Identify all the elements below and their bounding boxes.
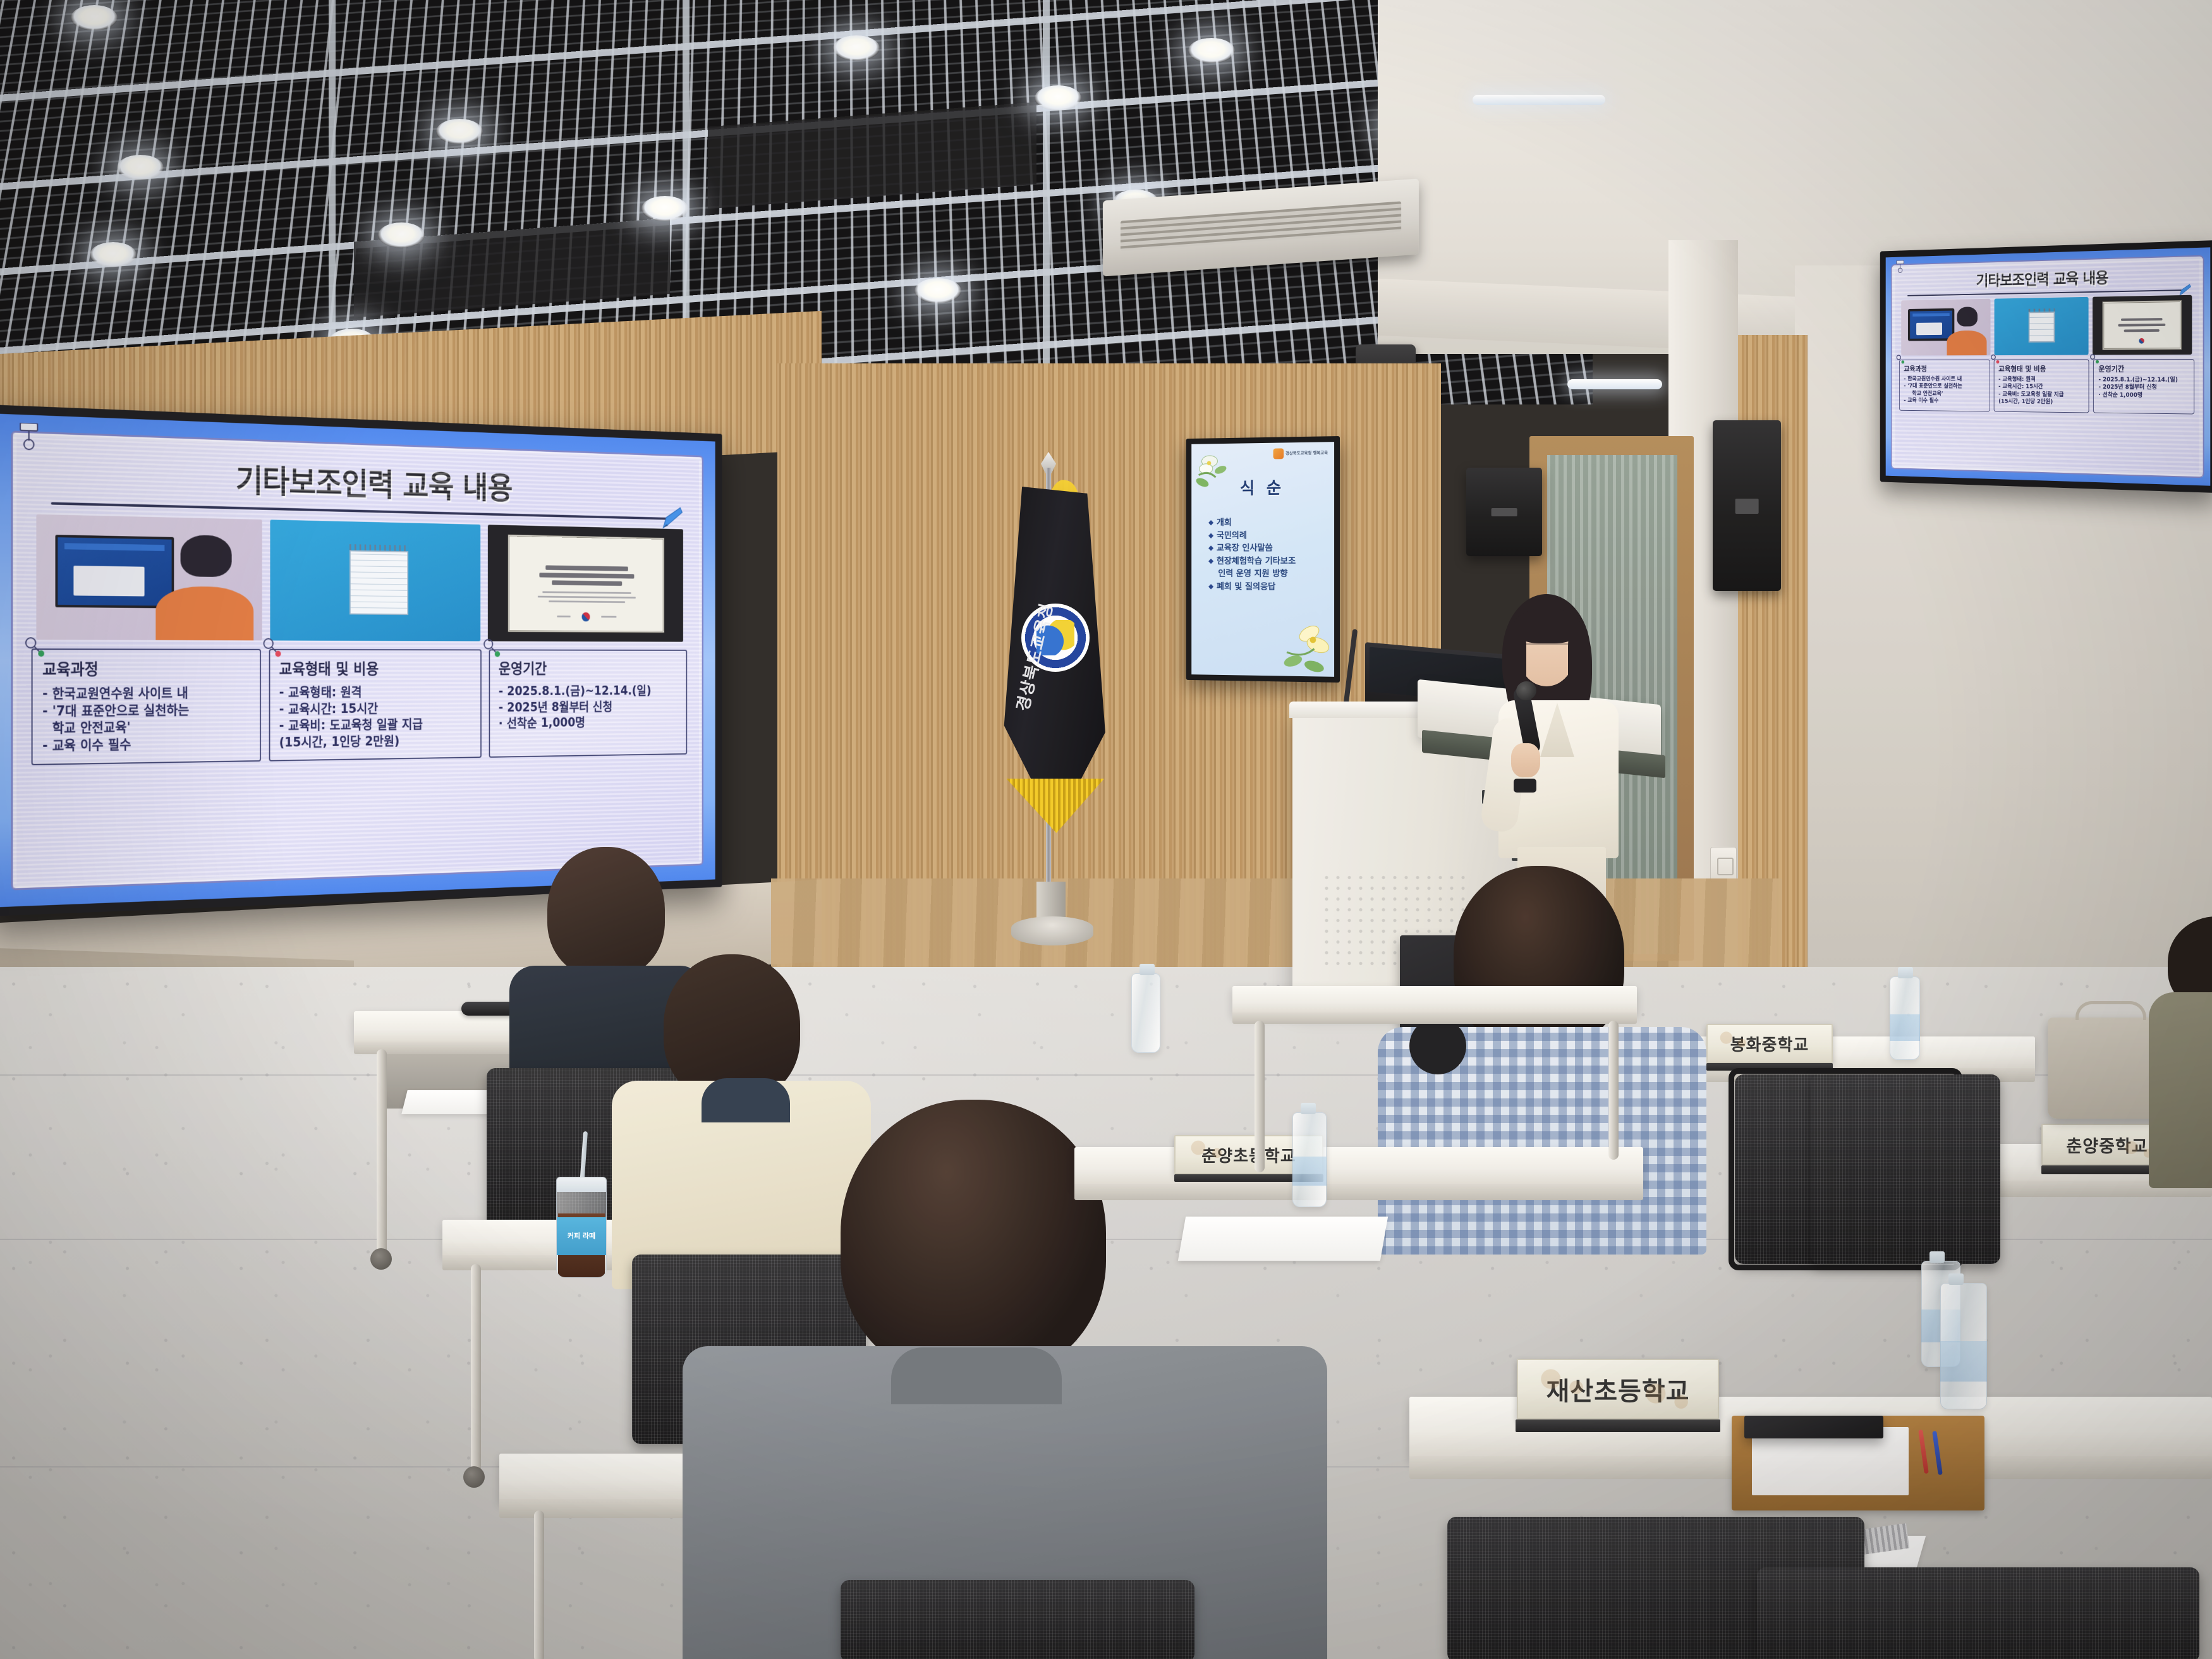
water-bottle	[1131, 973, 1160, 1053]
card-heading: 교육과정	[42, 657, 252, 680]
agenda-monitor: 경상북도교육청 행복교육 식 순 ◆개회 ◆국민의례 ◆교육장 인사말씀 ◆현장…	[1186, 436, 1340, 683]
korean-flag-seal	[582, 612, 590, 622]
agenda-item-list: ◆개회 ◆국민의례 ◆교육장 인사말씀 ◆현장체험학습 기타보조 인력 운영 지…	[1198, 516, 1328, 593]
slide-card-row: 교육과정 - 한국교원연수원 사이트 내 - '7대 표준안으로 실천하는 학교…	[27, 648, 691, 765]
card-bullet: - 2025.8.1.(금)~12.14.(일)	[499, 683, 679, 700]
certificate-illustration	[2093, 295, 2192, 355]
red-pen[interactable]	[1918, 1430, 1929, 1474]
table-edge	[1232, 1012, 1637, 1024]
push-pin-icon	[1896, 355, 1904, 364]
ceiling-downlight	[833, 35, 880, 61]
table-leg	[1255, 1021, 1265, 1172]
table-leg	[534, 1510, 544, 1659]
card-bullet: - 한국교원연수원 사이트 내	[42, 684, 252, 703]
nameplate-bonghwa-middle-school: 봉화중학교	[1706, 1024, 1833, 1063]
person-head	[841, 1100, 1106, 1378]
table-surface	[1232, 986, 1637, 1015]
card-bullet: - 교육 이수 필수	[42, 735, 252, 755]
slide-title: 기타보조인력 교육 내용	[1897, 264, 2197, 293]
bottle-label	[1940, 1341, 1987, 1382]
certificate-illustration	[488, 525, 683, 641]
online-training-illustration	[36, 514, 262, 641]
ceiling-strip-light	[1473, 95, 1605, 105]
card-heading: 교육형태 및 비용	[279, 657, 473, 679]
ceiling-downlight	[1188, 38, 1235, 63]
card-bullet: - 교육시간: 15시간	[279, 700, 473, 719]
binder-clip-icon	[1895, 260, 1905, 274]
card-bullet: (15시간, 1인당 2만원)	[279, 732, 473, 751]
agenda-slide: 경상북도교육청 행복교육 식 순 ◆개회 ◆국민의례 ◆교육장 인사말씀 ◆현장…	[1191, 442, 1334, 677]
push-pin-icon	[483, 638, 501, 657]
ceiling-downlight	[90, 242, 137, 267]
diamond-bullet-icon: ◆	[1208, 580, 1213, 593]
card-bullet: - 2025년 8월부터 신청	[2098, 384, 2190, 392]
eyeglasses-icon	[1522, 643, 1572, 655]
wall-power-outlet[interactable]	[1710, 847, 1737, 882]
ceiling-downlight	[641, 196, 688, 221]
ceiling-downlight	[117, 155, 164, 180]
table-leg	[1608, 1021, 1619, 1160]
office-chair-back[interactable]	[841, 1580, 1194, 1659]
card-bullet: - 교육 이수 필수	[1904, 398, 1986, 406]
table-leg	[377, 1049, 387, 1258]
flag-stand-base	[1011, 916, 1093, 945]
agenda-item: ◆현장체험학습 기타보조	[1208, 555, 1328, 568]
slide-card-curriculum: 교육과정 - 한국교원연수원 사이트 내 - '7대 표준안으로 실천하는 학교…	[1899, 360, 1990, 412]
flower-decoration-icon	[1193, 447, 1236, 497]
card-heading: 운영기간	[499, 657, 679, 678]
pencil-icon	[660, 505, 683, 532]
eyeglasses-frame	[1409, 1018, 1466, 1074]
slide-card-curriculum: 교육과정 - 한국교원연수원 사이트 내 - '7대 표준안으로 실천하는 학교…	[32, 648, 261, 765]
card-bullet: - 교육비: 도교육청 일괄 지급	[279, 716, 473, 734]
blue-pen[interactable]	[1932, 1431, 1943, 1475]
nameplate-stand	[1516, 1419, 1720, 1432]
calendar-illustration	[270, 520, 480, 641]
card-bullet: - 교육형태: 원격	[279, 684, 473, 702]
handbag-handle	[2075, 1001, 2146, 1020]
conference-room-photo: 기타보조인력 교육 내용	[0, 0, 2212, 1659]
name-tag-plate	[1744, 1416, 1883, 1438]
presentation-slide: 기타보조인력 교육 내용	[0, 414, 715, 908]
wall-speaker	[1713, 420, 1781, 591]
office-chair-back[interactable]	[1811, 1074, 2000, 1264]
agenda-item: ◆교육장 인사말씀	[1208, 542, 1328, 555]
push-pin-icon	[1990, 354, 1999, 363]
logo-mark-icon	[1273, 448, 1284, 459]
slide-title: 기타보조인력 교육 내용	[27, 448, 691, 513]
ceiling-strip-light	[1567, 379, 1662, 389]
push-pin-icon	[2090, 354, 2100, 364]
office-chair-back[interactable]	[1757, 1567, 2199, 1659]
card-heading: 운영기간	[2098, 363, 2190, 374]
side-monitor-duplicate-slide: 기타보조인력 교육 내용	[1880, 240, 2212, 493]
table-caster	[370, 1248, 392, 1270]
wall-speaker	[1466, 468, 1542, 556]
agenda-item: ◆개회	[1208, 516, 1328, 529]
person-torso	[2149, 992, 2212, 1188]
cup-sleeve-label: 커피 라떼	[568, 1232, 595, 1240]
card-bullet: - 교육시간: 15시간	[1998, 384, 2085, 392]
binder-clip-icon	[16, 423, 41, 453]
slide-card-period: 운영기간 - 2025.8.1.(금)~12.14.(일) - 2025년 8월…	[2093, 359, 2194, 414]
presenter-hand	[1511, 743, 1540, 777]
ceiling-downlight	[1035, 85, 1081, 111]
card-bullet: · 선착순 1,000명	[499, 714, 679, 732]
slide-image-row	[27, 514, 691, 641]
ceiling-downlight	[378, 222, 425, 248]
slide-card-period: 운영기간 - 2025.8.1.(금)~12.14.(일) - 2025년 8월…	[489, 649, 687, 757]
agenda-item-continuation: 인력 운영 지원 방향	[1208, 568, 1328, 581]
agenda-item: ◆폐회 및 질의응답	[1208, 580, 1328, 593]
card-bullet: · 선착순 1,000명	[2098, 391, 2190, 399]
slide-card-format-cost: 교육형태 및 비용 - 교육형태: 원격 - 교육시간: 15시간 - 교육비:…	[269, 649, 482, 762]
ceiling-downlight	[436, 119, 483, 144]
push-pin-icon	[24, 636, 45, 657]
slide-card-format-cost: 교육형태 및 비용 - 교육형태: 원격 - 교육시간: 15시간 - 교육비:…	[1993, 359, 2089, 413]
iced-coffee-cup: 커피 라떼	[556, 1177, 607, 1278]
diamond-bullet-icon: ◆	[1208, 529, 1213, 542]
card-bullet: - '7대 표준안으로 실천하는	[42, 702, 252, 720]
card-bullet: - '7대 표준안으로 실천하는	[1904, 383, 1986, 391]
card-bullet: - 2025년 8월부터 신청	[499, 698, 679, 715]
main-projection-screen: 기타보조인력 교육 내용	[0, 404, 722, 916]
diamond-bullet-icon: ◆	[1208, 542, 1213, 555]
table-edge	[1074, 1184, 1643, 1200]
audience-member	[2149, 916, 2212, 1182]
card-heading: 교육과정	[1904, 363, 1986, 374]
table-caster	[463, 1466, 485, 1488]
diamond-bullet-icon: ◆	[1208, 555, 1213, 568]
wristwatch	[1514, 779, 1536, 793]
bottle-label	[1890, 1014, 1920, 1041]
flower-decoration-icon	[1275, 614, 1335, 677]
bottle-label	[1292, 1157, 1327, 1186]
push-pin-icon	[262, 637, 281, 658]
card-bullet: 학교 안전교육'	[42, 718, 252, 738]
logo-text: 경상북도교육청 행복교육	[1285, 451, 1328, 456]
online-training-illustration	[1901, 299, 1990, 356]
ceiling-downlight	[915, 278, 961, 303]
diamond-bullet-icon: ◆	[1208, 516, 1213, 529]
card-heading: 교육형태 및 비용	[1998, 363, 2085, 374]
table-leg	[471, 1264, 481, 1473]
polo-collar	[891, 1347, 1062, 1404]
calendar-illustration	[1995, 297, 2089, 355]
cup-sleeve: 커피 라떼	[557, 1217, 606, 1255]
table-surface	[1074, 1147, 1643, 1186]
card-bullet: (15시간, 1인당 2만원)	[1998, 398, 2085, 406]
paper-handout	[1178, 1217, 1388, 1261]
nameplate-jaesan-elementary-school: 재산초등학교	[1517, 1359, 1719, 1419]
organization-logo: 경상북도교육청 행복교육	[1273, 447, 1328, 459]
agenda-item: ◆국민의례	[1208, 529, 1328, 542]
ceiling-downlight	[71, 5, 118, 30]
